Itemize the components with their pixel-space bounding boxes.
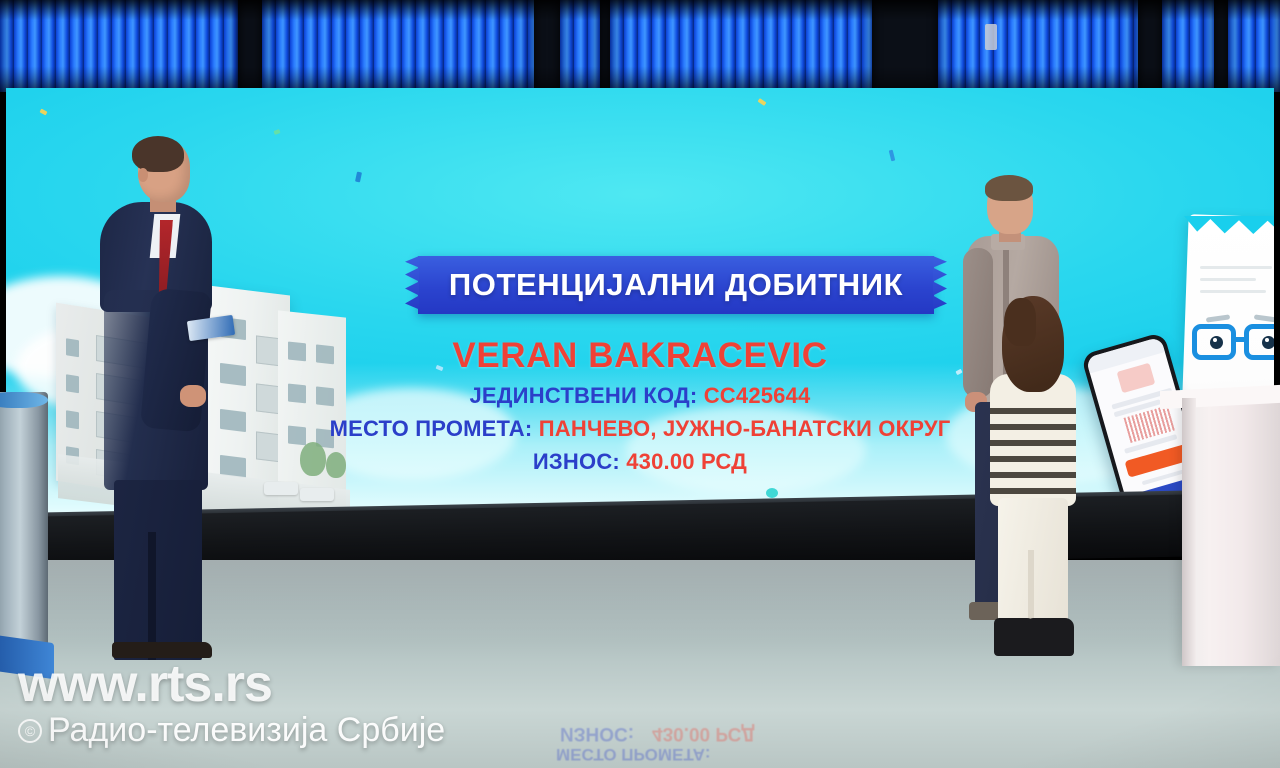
watermark-channel-name: Радио-телевизија Србије <box>48 711 445 750</box>
amount-value: 430.00 РСД <box>626 449 747 474</box>
channel-watermark: www.rts.rs © Радио-телевизија Србије <box>18 660 445 750</box>
guest-girl <box>988 300 1080 670</box>
winner-banner: ПОТЕНЦИЈАЛНИ ДОБИТНИК <box>406 256 946 314</box>
copyright-icon: © <box>18 719 42 743</box>
confetti-speck <box>273 129 280 135</box>
amount-label: ИЗНОС: <box>533 449 620 474</box>
confetti-speck <box>355 172 362 183</box>
watermark-url: www.rts.rs <box>18 660 445 709</box>
host-presenter <box>96 140 222 660</box>
podium-right <box>1182 398 1280 666</box>
confetti-speck <box>758 98 767 106</box>
reflection-amount-label: ИЗНОС: <box>560 722 634 744</box>
place-value: ПАНЧЕВО, ЈУЖНО-БАНАТСКИ ОКРУГ <box>539 416 951 441</box>
place-label: МЕСТО ПРОМЕТА: <box>330 416 533 441</box>
podium-left <box>0 392 48 654</box>
banner-label: ПОТЕНЦИЈАЛНИ ДОБИТНИК <box>418 256 934 314</box>
reflection-amount-value: 430.00 РСД <box>652 722 755 744</box>
broadcast-frame: ПОТЕНЦИЈАЛНИ ДОБИТНИК VERAN BAKRACEVIC Ј… <box>0 0 1280 768</box>
confetti-speck <box>39 109 47 116</box>
confetti-speck <box>766 488 778 498</box>
studio-backdrop <box>0 0 1280 92</box>
code-label: ЈЕДИНСТВЕНИ КОД: <box>470 383 698 408</box>
code-value: CC425644 <box>704 383 811 408</box>
confetti-speck <box>889 150 896 162</box>
reflection-place-label: МЕСТО ПРОМЕТА: <box>556 744 711 764</box>
